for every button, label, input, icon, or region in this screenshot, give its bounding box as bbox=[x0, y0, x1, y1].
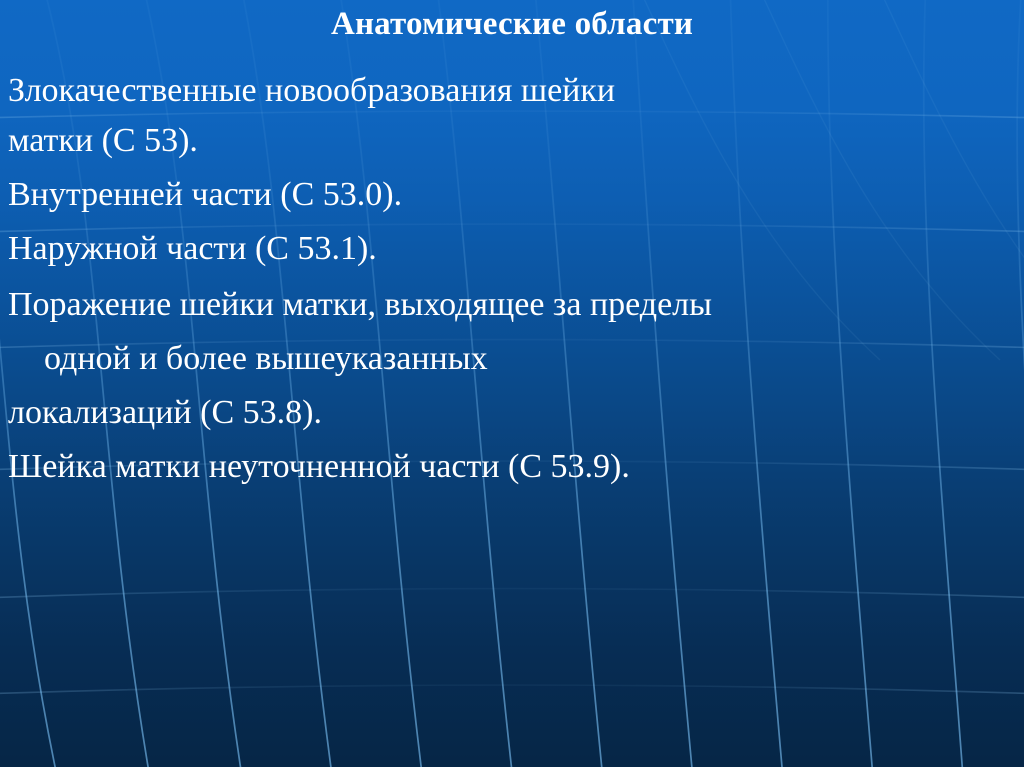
body-line-5: Поражение шейки матки, выходящее за пред… bbox=[8, 284, 712, 326]
body-line-4: Наружной части (С 53.1). bbox=[8, 228, 377, 270]
body-line-8: Шейка матки неуточненной части (С 53.9). bbox=[8, 446, 630, 488]
body-line-6: одной и более вышеуказанных bbox=[44, 338, 488, 380]
body-line-2: матки (С 53). bbox=[8, 120, 198, 162]
slide-text-layer: Анатомические области Злокачественные но… bbox=[0, 0, 1024, 767]
body-line-7: локализаций (С 53.8). bbox=[8, 392, 322, 434]
body-line-1: Злокачественные новообразования шейки bbox=[8, 70, 615, 112]
body-line-3: Внутренней части (С 53.0). bbox=[8, 174, 402, 216]
slide-title: Анатомические области bbox=[0, 4, 1024, 44]
presentation-slide: Анатомические области Злокачественные но… bbox=[0, 0, 1024, 767]
